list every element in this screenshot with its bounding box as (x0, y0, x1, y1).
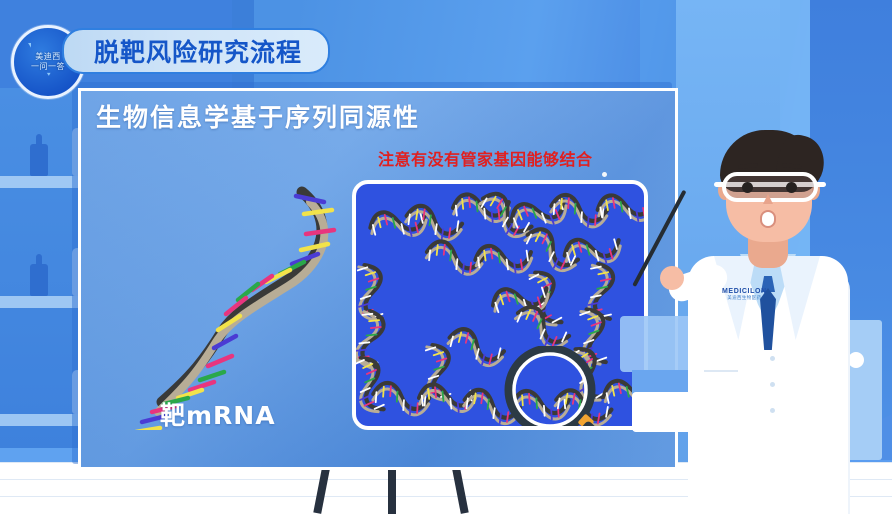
mouth (760, 210, 776, 228)
hand (660, 266, 684, 290)
board-title: 生物信息学基于序列同源性 (96, 98, 420, 134)
coat-button (770, 382, 775, 387)
easel-leg (388, 468, 396, 514)
eye (786, 182, 797, 193)
shelf-bottle-neck (36, 254, 42, 266)
page-title: 脱靶风险研究流程 (94, 33, 302, 69)
shelf-bottle-neck (36, 134, 42, 146)
page-title-pill: 脱靶风险研究流程 (62, 28, 330, 74)
coat-brand-sub: 美迪西生物医药 (722, 295, 767, 301)
shelf-bottle (30, 264, 48, 296)
coat-button (770, 408, 775, 413)
coat-brand-logo: MEDICILON 美迪西生物医药 (722, 288, 767, 301)
scientist-character: MEDICILON 美迪西生物医药 (660, 120, 870, 514)
scene-root: 生物信息学基于序列同源性 注意有没有管家基因能够结合 (0, 0, 892, 514)
coat-pocket (704, 370, 738, 372)
pointer-tip-icon (602, 172, 607, 177)
board-note-text: 注意有没有管家基因能够结合 (378, 146, 593, 170)
safety-goggles-icon (722, 172, 818, 202)
mrna-label: 靶mRNA (160, 396, 276, 432)
coat-brand-name: MEDICILON (722, 288, 767, 295)
coat-button (770, 356, 775, 361)
sequence-panel (352, 180, 648, 430)
eye (742, 182, 753, 193)
shelf-bottle (30, 144, 48, 176)
badge-line-2: 一问一答 (31, 62, 65, 72)
target-mrna-helix (96, 180, 346, 430)
badge-line-1: 美迪西 (35, 52, 61, 62)
